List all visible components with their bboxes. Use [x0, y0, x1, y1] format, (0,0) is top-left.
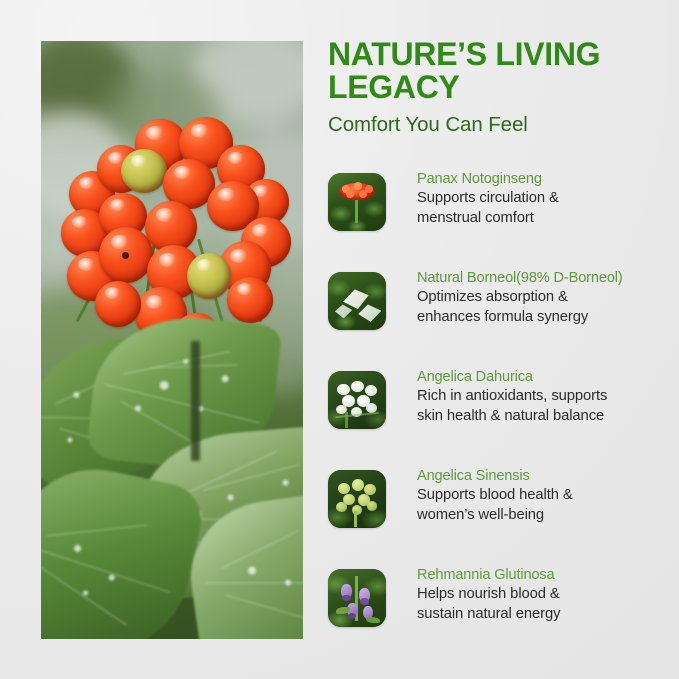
ingredient-name: Angelica Sinensis [417, 467, 673, 486]
page-title-line-2: LEGACY [328, 69, 460, 105]
ingredient-list: Panax Notoginseng Supports circulation &… [328, 170, 673, 665]
ingredient-desc-line-2: women’s well-being [417, 506, 673, 526]
ginseng-berry [99, 227, 153, 283]
ingredient-desc-line-1: Optimizes absorption & [417, 288, 673, 308]
list-item: Natural Borneol(98% D-Borneol) Optimizes… [328, 269, 673, 368]
headline-block: NATURE’S LIVING LEGACY Comfort You Can F… [328, 38, 668, 137]
ingredient-desc-line-1: Rich in antioxidants, supports [417, 387, 673, 407]
product-infographic: NATURE’S LIVING LEGACY Comfort You Can F… [0, 0, 679, 679]
ingredient-desc-line-1: Helps nourish blood & [417, 585, 673, 605]
ingredient-name: Panax Notoginseng [417, 170, 673, 189]
page-subtitle: Comfort You Can Feel [328, 113, 668, 137]
ingredient-desc-line-1: Supports circulation & [417, 189, 673, 209]
ingredient-text: Rehmannia Glutinosa Helps nourish blood … [417, 566, 673, 624]
list-item: Angelica Sinensis Supports blood health … [328, 467, 673, 566]
natural-borneol-icon [328, 272, 386, 330]
plant-stem [191, 341, 200, 461]
angelica-dahurica-icon [328, 371, 386, 429]
ingredient-text: Angelica Dahurica Rich in antioxidants, … [417, 368, 673, 426]
ingredient-desc-line-2: enhances formula synergy [417, 308, 673, 328]
ingredient-desc-line-2: menstrual comfort [417, 209, 673, 229]
list-item: Rehmannia Glutinosa Helps nourish blood … [328, 566, 673, 665]
ginseng-berry-unripe [121, 149, 167, 193]
ingredient-name: Rehmannia Glutinosa [417, 566, 673, 585]
ingredient-desc-line-2: sustain natural energy [417, 605, 673, 625]
list-item: Angelica Dahurica Rich in antioxidants, … [328, 368, 673, 467]
rehmannia-glutinosa-icon [328, 569, 386, 627]
hero-image [41, 41, 303, 639]
angelica-sinensis-icon [328, 470, 386, 528]
ingredient-desc-line-2: skin health & natural balance [417, 407, 673, 427]
ingredient-desc-line-1: Supports blood health & [417, 486, 673, 506]
ginseng-berry [227, 277, 273, 323]
page-title-line-1: NATURE’S LIVING [328, 36, 600, 72]
ginseng-berry-unripe [187, 253, 231, 299]
ginseng-berry [95, 281, 141, 327]
list-item: Panax Notoginseng Supports circulation &… [328, 170, 673, 269]
ingredient-text: Panax Notoginseng Supports circulation &… [417, 170, 673, 228]
ingredient-name: Angelica Dahurica [417, 368, 673, 387]
page-title: NATURE’S LIVING LEGACY [328, 38, 668, 104]
ingredient-text: Natural Borneol(98% D-Borneol) Optimizes… [417, 269, 673, 327]
ingredient-name: Natural Borneol(98% D-Borneol) [417, 269, 673, 288]
ingredient-text: Angelica Sinensis Supports blood health … [417, 467, 673, 525]
panax-notoginseng-icon [328, 173, 386, 231]
